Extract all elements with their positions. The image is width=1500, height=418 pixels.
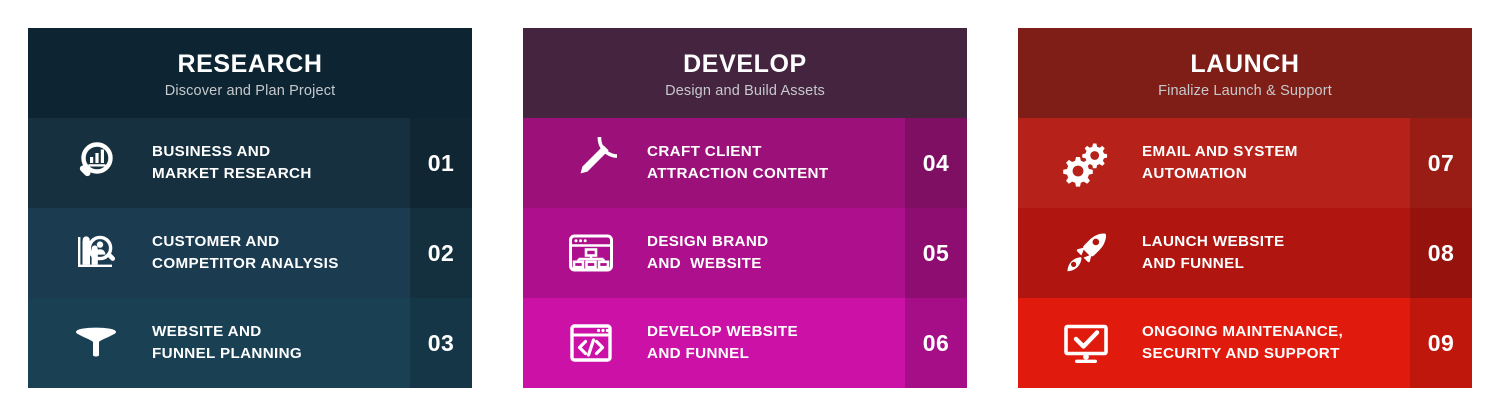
- step-number: 06: [905, 298, 967, 388]
- rockets-icon: [1054, 225, 1118, 281]
- step-list-develop: CRAFT CLIENTATTRACTION CONTENT 04: [523, 118, 967, 388]
- step-row[interactable]: CRAFT CLIENTATTRACTION CONTENT 04: [523, 118, 967, 208]
- step-list-research: BUSINESS ANDMARKET RESEARCH 01: [28, 118, 472, 388]
- phase-title: LAUNCH: [1190, 51, 1299, 77]
- step-body: BUSINESS ANDMARKET RESEARCH: [28, 118, 410, 208]
- step-label: LAUNCH WEBSITEAND FUNNEL: [1142, 231, 1284, 274]
- step-label: CRAFT CLIENTATTRACTION CONTENT: [647, 141, 829, 184]
- step-label: WEBSITE ANDFUNNEL PLANNING: [152, 321, 302, 364]
- phase-header-launch: LAUNCH Finalize Launch & Support: [1018, 28, 1472, 118]
- step-body: DEVELOP WEBSITEAND FUNNEL: [523, 298, 905, 388]
- step-label: DEVELOP WEBSITEAND FUNNEL: [647, 321, 798, 364]
- phase-subtitle: Discover and Plan Project: [165, 83, 336, 99]
- browser-sitemap-icon: [559, 225, 623, 281]
- step-body: ONGOING MAINTENANCE,SECURITY AND SUPPORT: [1018, 298, 1410, 388]
- step-body: WEBSITE ANDFUNNEL PLANNING: [28, 298, 410, 388]
- step-row[interactable]: DEVELOP WEBSITEAND FUNNEL 06: [523, 298, 967, 388]
- phase-title: DEVELOP: [683, 51, 807, 77]
- step-row[interactable]: CUSTOMER ANDCOMPETITOR ANALYSIS 02: [28, 208, 472, 298]
- step-row[interactable]: WEBSITE ANDFUNNEL PLANNING 03: [28, 298, 472, 388]
- browser-code-icon: [559, 315, 623, 371]
- step-label: EMAIL AND SYSTEMAUTOMATION: [1142, 141, 1298, 184]
- step-number: 01: [410, 118, 472, 208]
- step-number: 09: [1410, 298, 1472, 388]
- phase-card-launch: LAUNCH Finalize Launch & Support: [1018, 28, 1472, 388]
- monitor-check-icon: [1054, 315, 1118, 371]
- step-number: 07: [1410, 118, 1472, 208]
- infographic-board: RESEARCH Discover and Plan Project: [0, 0, 1500, 418]
- bar-chart-person-magnifier-icon: [64, 225, 128, 281]
- step-body: CUSTOMER ANDCOMPETITOR ANALYSIS: [28, 208, 410, 298]
- step-body: LAUNCH WEBSITEAND FUNNEL: [1018, 208, 1410, 298]
- step-number: 08: [1410, 208, 1472, 298]
- magnifier-bar-chart-icon: [64, 135, 128, 191]
- phase-card-develop: DEVELOP Design and Build Assets CRAFT CL…: [523, 28, 967, 388]
- phase-subtitle: Finalize Launch & Support: [1158, 83, 1332, 99]
- phase-card-research: RESEARCH Discover and Plan Project: [28, 28, 472, 388]
- step-row[interactable]: BUSINESS ANDMARKET RESEARCH 01: [28, 118, 472, 208]
- step-row[interactable]: LAUNCH WEBSITEAND FUNNEL 08: [1018, 208, 1472, 298]
- step-row[interactable]: ONGOING MAINTENANCE,SECURITY AND SUPPORT…: [1018, 298, 1472, 388]
- step-list-launch: EMAIL AND SYSTEMAUTOMATION 07: [1018, 118, 1472, 388]
- step-number: 03: [410, 298, 472, 388]
- pencil-circle-icon: [559, 135, 623, 191]
- step-row[interactable]: DESIGN BRANDAND WEBSITE 05: [523, 208, 967, 298]
- step-number: 04: [905, 118, 967, 208]
- funnel-icon: [64, 315, 128, 371]
- phase-header-research: RESEARCH Discover and Plan Project: [28, 28, 472, 118]
- step-body: CRAFT CLIENTATTRACTION CONTENT: [523, 118, 905, 208]
- step-label: CUSTOMER ANDCOMPETITOR ANALYSIS: [152, 231, 339, 274]
- step-label: ONGOING MAINTENANCE,SECURITY AND SUPPORT: [1142, 321, 1343, 364]
- step-body: DESIGN BRANDAND WEBSITE: [523, 208, 905, 298]
- phase-subtitle: Design and Build Assets: [665, 83, 825, 99]
- step-label: DESIGN BRANDAND WEBSITE: [647, 231, 769, 274]
- phase-title: RESEARCH: [177, 51, 322, 77]
- step-row[interactable]: EMAIL AND SYSTEMAUTOMATION 07: [1018, 118, 1472, 208]
- step-label: BUSINESS ANDMARKET RESEARCH: [152, 141, 312, 184]
- gears-icon: [1054, 135, 1118, 191]
- phase-header-develop: DEVELOP Design and Build Assets: [523, 28, 967, 118]
- step-number: 05: [905, 208, 967, 298]
- step-body: EMAIL AND SYSTEMAUTOMATION: [1018, 118, 1410, 208]
- step-number: 02: [410, 208, 472, 298]
